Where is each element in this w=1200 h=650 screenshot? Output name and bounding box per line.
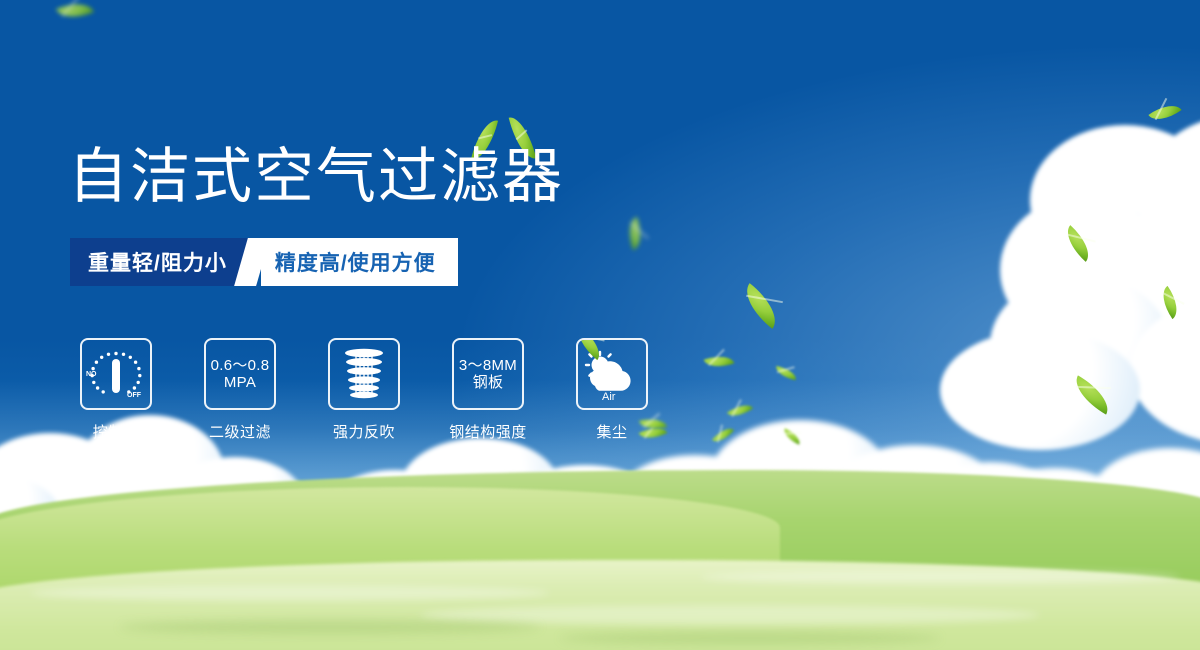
feature-icon-box: 0.6〜0.8 MPA	[204, 338, 276, 410]
subtitle-right-text: 精度高/使用方便	[261, 238, 458, 286]
feature-label: 强力反吹	[333, 421, 395, 442]
feature-item-secondary-filter[interactable]: 0.6〜0.8 MPA 二级过滤	[204, 338, 276, 442]
feature-label: 集尘	[596, 421, 627, 442]
feature-item-controller[interactable]: NO OFF 控制仪	[80, 338, 152, 442]
gauge-icon: NO OFF	[83, 343, 149, 405]
grass-shadow	[560, 632, 940, 644]
grass-highlight	[30, 585, 550, 601]
feature-label: 控制仪	[93, 421, 140, 442]
feature-item-dust-collection[interactable]: Air 集尘	[576, 338, 648, 442]
grass-highlight	[420, 605, 1040, 625]
gauge-off-label: OFF	[127, 392, 142, 399]
subtitle-bar: 重量轻/阻力小 精度高/使用方便	[70, 238, 458, 286]
feature-item-backblow[interactable]: 强力反吹	[328, 338, 400, 442]
feature-list: NO OFF 控制仪 0.6〜0.8 MPA 二级过滤	[80, 338, 648, 442]
feature-label: 二级过滤	[209, 421, 271, 442]
feature-text: 0.6〜0.8 MPA	[211, 357, 270, 391]
feature-text: 3〜8MM 钢板	[459, 357, 517, 391]
feature-item-steel-strength[interactable]: 3〜8MM 钢板 钢结构强度	[452, 338, 524, 442]
subtitle-left-text: 重量轻/阻力小	[70, 238, 257, 286]
feature-icon-box: Air	[576, 338, 648, 410]
gauge-no-label: NO	[86, 371, 97, 378]
page-title: 自洁式空气过滤器	[68, 142, 564, 212]
feature-icon-box: NO OFF	[80, 338, 152, 410]
feature-icon-box	[328, 338, 400, 410]
grass-shadow	[120, 620, 540, 634]
product-banner: 自洁式空气过滤器 重量轻/阻力小 精度高/使用方便	[0, 0, 1200, 650]
feature-label: 钢结构强度	[449, 421, 527, 442]
grass-highlight	[700, 570, 1180, 584]
air-label: Air	[602, 391, 616, 402]
filter-stack-icon	[336, 344, 392, 404]
feature-icon-box: 3〜8MM 钢板	[452, 338, 524, 410]
